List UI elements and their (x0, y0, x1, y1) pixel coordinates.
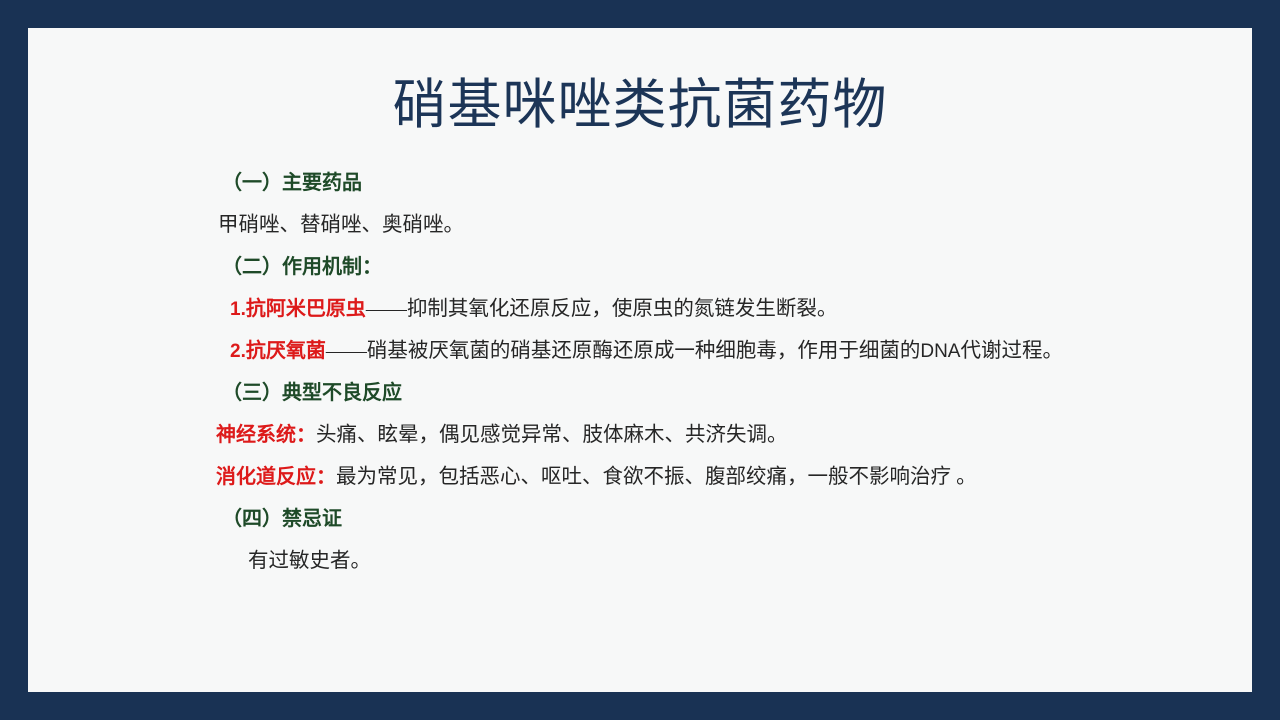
slide-panel: 硝基咪唑类抗菌药物 （一）主要药品 甲硝唑、替硝唑、奥硝唑。 （二）作用机制： … (28, 28, 1252, 692)
mechanism-1-description: ——抑制其氧化还原反应，使原虫的氮链发生断裂。 (366, 298, 838, 320)
mechanism-1-term: 抗阿米巴原虫 (246, 298, 366, 320)
mechanism-2-dna-label: DNA (920, 341, 960, 362)
section-heading-adverse-reactions: （三）典型不良反应 (190, 372, 1240, 414)
section-heading-main-drugs: （一）主要药品 (190, 162, 1240, 204)
section-heading-contraindications: （四）禁忌证 (190, 498, 1240, 540)
adverse-1-term: 神经系统： (216, 424, 316, 446)
page-title: 硝基咪唑类抗菌药物 (28, 72, 1252, 138)
mechanism-item-antianaerobic: 2.抗厌氧菌——硝基被厌氧菌的硝基还原酶还原成一种细胞毒，作用于细菌的DNA代谢… (190, 330, 1240, 372)
mechanism-2-description-part1: ——硝基被厌氧菌的硝基还原酶还原成一种细胞毒，作用于细菌的 (326, 340, 921, 362)
slide-body: （一）主要药品 甲硝唑、替硝唑、奥硝唑。 （二）作用机制： 1.抗阿米巴原虫——… (190, 162, 1240, 582)
mechanism-2-description-part2: 代谢过程。 (960, 340, 1063, 362)
adverse-2-term: 消化道反应： (216, 466, 336, 488)
adverse-reaction-nervous-system: 神经系统：头痛、眩晕，偶见感觉异常、肢体麻木、共济失调。 (190, 414, 1240, 456)
mechanism-2-number: 2. (230, 341, 246, 362)
adverse-1-description: 头痛、眩晕，偶见感觉异常、肢体麻木、共济失调。 (316, 424, 788, 446)
section-text-contraindications: 有过敏史者。 (190, 540, 1240, 582)
section-heading-mechanism: （二）作用机制： (190, 246, 1240, 288)
adverse-2-description: 最为常见，包括恶心、呕吐、食欲不振、腹部绞痛，一般不影响治疗 。 (336, 466, 977, 488)
section-text-main-drugs: 甲硝唑、替硝唑、奥硝唑。 (190, 204, 1240, 246)
adverse-reaction-digestive: 消化道反应：最为常见，包括恶心、呕吐、食欲不振、腹部绞痛，一般不影响治疗 。 (190, 456, 1240, 498)
slide-canvas: 硝基咪唑类抗菌药物 （一）主要药品 甲硝唑、替硝唑、奥硝唑。 （二）作用机制： … (0, 0, 1280, 720)
mechanism-1-number: 1. (230, 299, 246, 320)
mechanism-item-antiamoebic: 1.抗阿米巴原虫——抑制其氧化还原反应，使原虫的氮链发生断裂。 (190, 288, 1240, 330)
mechanism-2-term: 抗厌氧菌 (246, 340, 326, 362)
